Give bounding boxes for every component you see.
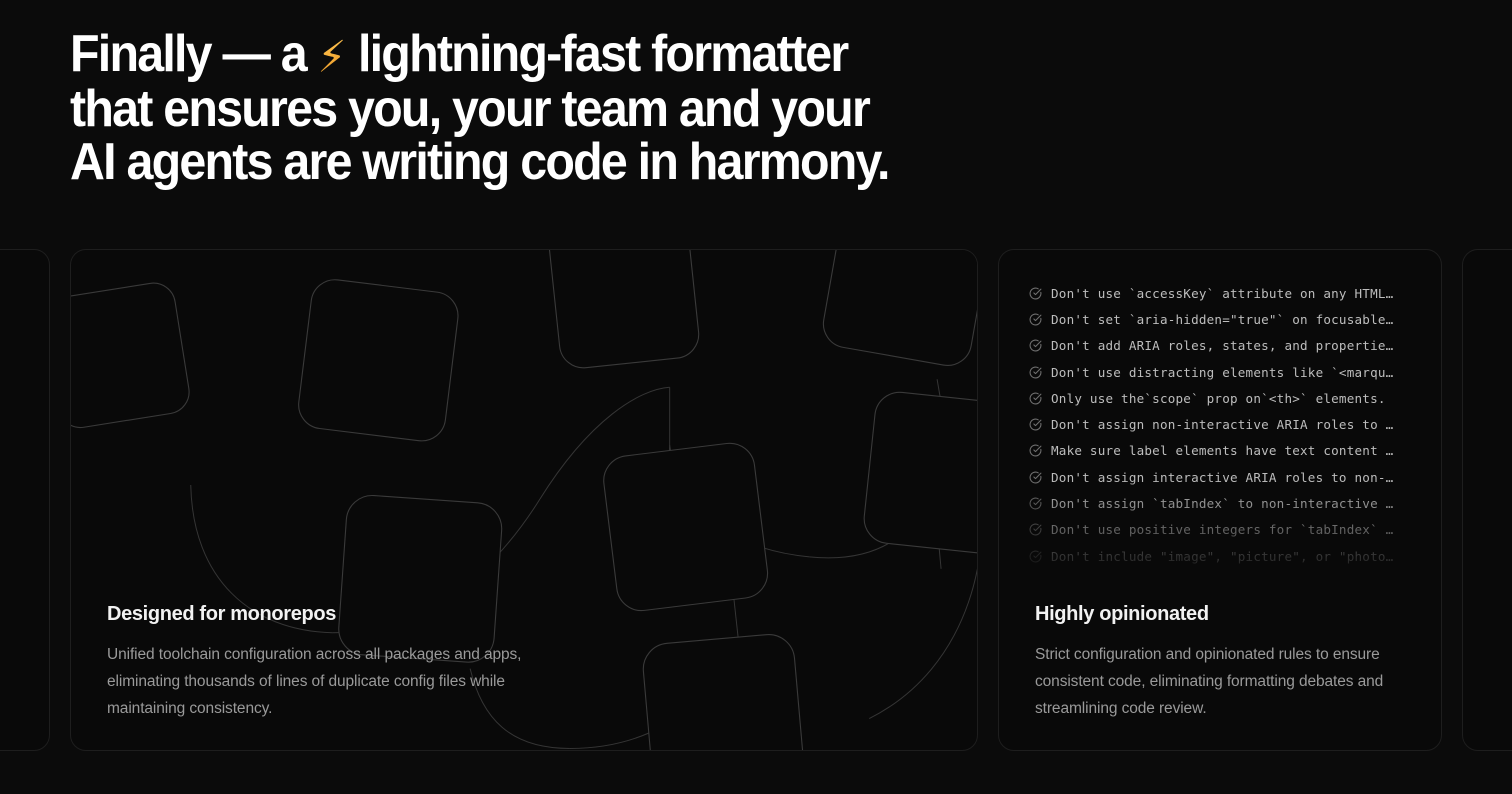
lint-rule-text: Don't set `aria-hidden="true"` on focusa… <box>1051 312 1393 327</box>
feature-card-highly-opinionated[interactable]: Don't use `accessKey` attribute on any H… <box>998 249 1442 751</box>
card-title-highly-opinionated: Highly opinionated <box>1035 601 1405 627</box>
circle-check-icon <box>1029 497 1042 510</box>
lint-rule-text: Don't use `accessKey` attribute on any H… <box>1051 286 1393 301</box>
lint-rule-text: Only use the`scope` prop on`<th>` elemen… <box>1051 391 1386 406</box>
lint-rule-text: Don't use positive integers for `tabInde… <box>1051 522 1393 537</box>
lint-rule-text: Don't assign non-interactive ARIA roles … <box>1051 417 1393 432</box>
lint-rule-row: Don't assign non-interactive ARIA roles … <box>1029 411 1427 437</box>
carousel-card-previous-partial[interactable] <box>0 249 50 751</box>
lint-rule-row: Don't add ARIA roles, states, and proper… <box>1029 333 1427 359</box>
lint-rule-row: Only use the`scope` prop on`<th>` elemen… <box>1029 385 1427 411</box>
circle-check-icon <box>1029 392 1042 405</box>
lint-rule-row: Don't include "image", "picture", or "ph… <box>1029 543 1427 569</box>
page-title: Finally — a ⚡ lightning-fast formatterth… <box>70 28 1000 189</box>
lint-rule-row: Don't set `aria-hidden="true"` on focusa… <box>1029 306 1427 332</box>
card-title-monorepos: Designed for monorepos <box>107 601 941 627</box>
lint-rule-text: Make sure label elements have text conte… <box>1051 443 1393 458</box>
circle-check-icon <box>1029 313 1042 326</box>
lint-rule-text: Don't add ARIA roles, states, and proper… <box>1051 338 1393 353</box>
card-copy-monorepos: Designed for monorepos Unified toolchain… <box>107 601 941 722</box>
headline-line-1-after: lightning-fast formatter <box>346 25 847 83</box>
lint-rule-row: Make sure label elements have text conte… <box>1029 438 1427 464</box>
lint-rule-row: Don't use positive integers for `tabInde… <box>1029 517 1427 543</box>
lint-rule-text: Don't assign `tabIndex` to non-interacti… <box>1051 496 1393 511</box>
lint-rule-row: Don't assign `tabIndex` to non-interacti… <box>1029 490 1427 516</box>
headline-line-2: that ensures you, your team and your <box>70 80 869 138</box>
lint-rule-text: Don't assign interactive ARIA roles to n… <box>1051 470 1393 485</box>
circle-check-icon <box>1029 471 1042 484</box>
headline-line-3: AI agents are writing code in harmony. <box>70 133 889 191</box>
circle-check-icon <box>1029 418 1042 431</box>
carousel-card-next-partial[interactable] <box>1462 249 1512 751</box>
circle-check-icon <box>1029 444 1042 457</box>
headline-line-1-before: Finally — a <box>70 25 318 83</box>
lint-rule-row: Don't use `accessKey` attribute on any H… <box>1029 280 1427 306</box>
circle-check-icon <box>1029 287 1042 300</box>
circle-check-icon <box>1029 339 1042 352</box>
circle-check-icon <box>1029 550 1042 563</box>
feature-card-carousel[interactable]: Designed for monorepos Unified toolchain… <box>0 249 1512 751</box>
lint-rules-list: Don't use `accessKey` attribute on any H… <box>1029 280 1427 580</box>
circle-check-icon <box>1029 523 1042 536</box>
lint-rule-row: Don't assign interactive ARIA roles to n… <box>1029 464 1427 490</box>
lint-rule-text: Don't include "image", "picture", or "ph… <box>1051 549 1393 564</box>
card-description-monorepos: Unified toolchain configuration across a… <box>107 641 547 722</box>
card-copy-highly-opinionated: Highly opinionated Strict configuration … <box>1035 601 1405 722</box>
high-voltage-emoji: ⚡ <box>318 31 347 84</box>
feature-card-monorepos[interactable]: Designed for monorepos Unified toolchain… <box>70 249 978 751</box>
circle-check-icon <box>1029 366 1042 379</box>
card-description-highly-opinionated: Strict configuration and opinionated rul… <box>1035 641 1405 722</box>
lint-rule-text: Don't use distracting elements like `<ma… <box>1051 365 1393 380</box>
lint-rule-row: Don't use distracting elements like `<ma… <box>1029 359 1427 385</box>
